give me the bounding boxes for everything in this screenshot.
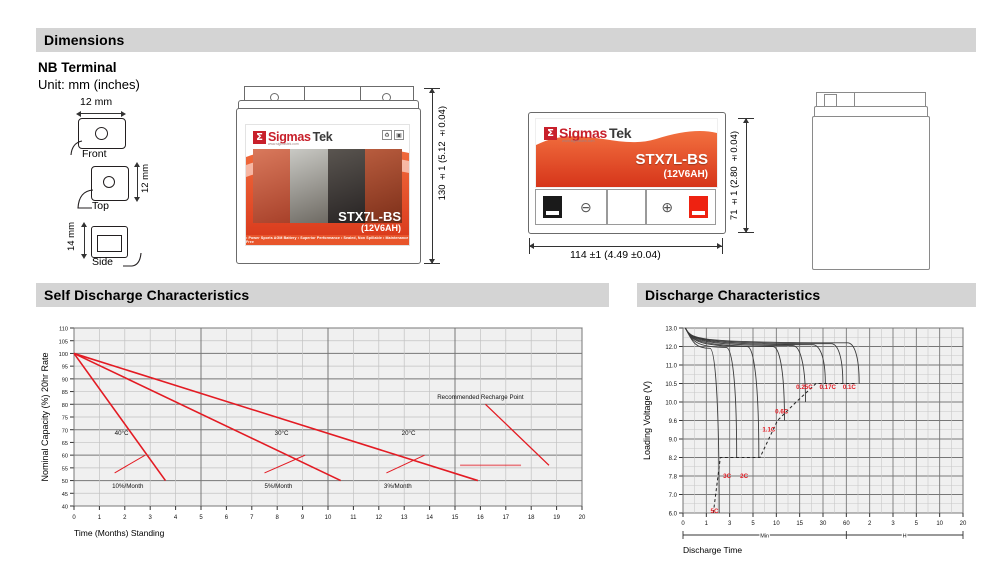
svg-text:10: 10 xyxy=(325,515,332,521)
svg-text:65: 65 xyxy=(62,441,68,447)
svg-text:80: 80 xyxy=(62,403,68,409)
recycle-icon: ♻ xyxy=(382,130,392,140)
discharge-plot: 13.012.011.010.510.09.69.08.27.87.06.001… xyxy=(637,320,982,570)
front-width-label: 12 mm xyxy=(80,96,112,108)
positive-post-icon xyxy=(689,196,708,218)
svg-text:Discharge Time: Discharge Time xyxy=(683,545,742,555)
sigma-mark-icon: Σ xyxy=(544,127,557,140)
svg-text:6: 6 xyxy=(225,515,229,521)
svg-text:20: 20 xyxy=(579,515,586,521)
photo-2 xyxy=(290,149,327,223)
terminal-top-caption: Top xyxy=(92,200,109,212)
svg-text:H: H xyxy=(903,534,907,540)
svg-text:1: 1 xyxy=(705,521,709,527)
battery-side-view xyxy=(812,84,930,270)
negative-symbol-icon: ⊖ xyxy=(580,199,592,216)
svg-text:55: 55 xyxy=(62,466,68,472)
brand-url: www.sigmastek.com xyxy=(268,142,299,146)
discharge-chart: 13.012.011.010.510.09.69.08.27.87.06.001… xyxy=(637,320,982,570)
svg-text:7.0: 7.0 xyxy=(669,493,678,499)
svg-text:20°C: 20°C xyxy=(402,430,416,437)
side-leader xyxy=(122,252,142,268)
svg-text:2: 2 xyxy=(868,521,872,527)
svg-text:15: 15 xyxy=(796,521,803,527)
svg-text:90: 90 xyxy=(62,377,68,383)
side-height-label: 14 mm xyxy=(66,222,77,251)
width-dim-line xyxy=(529,246,723,247)
svg-text:2: 2 xyxy=(123,515,127,521)
svg-text:5: 5 xyxy=(915,521,919,527)
side-body xyxy=(812,116,930,270)
svg-text:8: 8 xyxy=(276,515,280,521)
depth-arrow-down xyxy=(743,228,749,233)
svg-text:0.25C: 0.25C xyxy=(796,384,813,391)
svg-text:16: 16 xyxy=(477,515,484,521)
section-header-discharge: Discharge Characteristics xyxy=(637,283,976,307)
side-arrow-down xyxy=(81,254,87,259)
svg-text:70: 70 xyxy=(62,428,68,434)
terminal-row: ⊖ ⊕ xyxy=(535,189,716,225)
svg-text:50: 50 xyxy=(62,479,68,485)
svg-text:13: 13 xyxy=(401,515,408,521)
svg-text:9: 9 xyxy=(301,515,305,521)
top-brand-url: www.sigmastek.com xyxy=(562,139,595,143)
width-arrow-left xyxy=(529,243,534,249)
nb-terminal-title: NB Terminal xyxy=(38,60,117,75)
svg-text:13.0: 13.0 xyxy=(665,327,677,333)
height-arrow-up xyxy=(429,88,435,93)
top-height-label: 12 mm xyxy=(140,164,151,193)
unit-label: Unit: mm (inches) xyxy=(38,77,140,92)
svg-text:0.17C: 0.17C xyxy=(820,384,837,391)
svg-text:1.1C: 1.1C xyxy=(762,426,776,433)
svg-text:3: 3 xyxy=(149,515,153,521)
svg-text:11.0: 11.0 xyxy=(666,364,678,370)
svg-text:75: 75 xyxy=(62,416,68,422)
section-header-self-discharge: Self Discharge Characteristics xyxy=(36,283,609,307)
section-header-dimensions: Dimensions xyxy=(36,28,976,52)
battery-top-label: Σ SigmasTek www.sigmastek.com STX7L-BS (… xyxy=(535,118,718,188)
svg-text:105: 105 xyxy=(59,339,68,345)
svg-text:9.0: 9.0 xyxy=(669,438,678,444)
top-leader xyxy=(74,188,94,210)
label-tagline: • Power Sports AGM Battery • Superior Pe… xyxy=(246,235,409,245)
side-dim-line xyxy=(84,226,85,256)
svg-text:14: 14 xyxy=(426,515,433,521)
svg-text:3%/Month: 3%/Month xyxy=(384,483,412,490)
svg-text:10.0: 10.0 xyxy=(665,401,677,407)
label-capacity-front: (12V6AH) xyxy=(361,223,401,233)
battery-front-view: Σ SigmasTek www.sigmastek.com ♻ ▣ STX7L-… xyxy=(236,86,421,264)
svg-text:95: 95 xyxy=(62,365,68,371)
top-dim-line xyxy=(137,166,138,199)
manual-icon: ▣ xyxy=(394,130,404,140)
svg-text:12.0: 12.0 xyxy=(665,345,677,351)
label-model-top: STX7L-BS xyxy=(635,151,708,168)
svg-text:3: 3 xyxy=(728,521,732,527)
label-badges: ♻ ▣ xyxy=(382,130,404,140)
svg-text:5: 5 xyxy=(199,515,203,521)
svg-text:3: 3 xyxy=(891,521,895,527)
svg-text:12: 12 xyxy=(375,515,382,521)
svg-text:100: 100 xyxy=(59,352,68,358)
width-dim-tick-right xyxy=(722,238,723,254)
svg-text:9.6: 9.6 xyxy=(669,419,678,425)
battery-height-label: 130 ±1 (5.12 ±0.04) xyxy=(437,106,448,200)
svg-text:45: 45 xyxy=(62,492,68,498)
svg-text:7.8: 7.8 xyxy=(669,475,678,481)
svg-text:2C: 2C xyxy=(740,473,748,480)
sigma-mark-icon: Σ xyxy=(253,131,266,144)
svg-text:Min: Min xyxy=(760,534,769,540)
svg-text:10%/Month: 10%/Month xyxy=(112,483,144,490)
battery-width-label: 114 ±1 (4.49 ±0.04) xyxy=(570,249,661,261)
svg-text:30°C: 30°C xyxy=(275,430,289,437)
label-capacity-top: (12V6AH) xyxy=(664,169,708,180)
svg-text:7: 7 xyxy=(250,515,254,521)
section-title: Dimensions xyxy=(44,32,124,48)
negative-terminal-cell: ⊖ xyxy=(535,189,607,225)
terminal-middle-cell xyxy=(607,189,646,225)
svg-text:0.6C: 0.6C xyxy=(775,409,789,416)
section-title: Self Discharge Characteristics xyxy=(44,287,249,303)
svg-text:110: 110 xyxy=(59,327,68,333)
svg-text:18: 18 xyxy=(528,515,535,521)
svg-text:Time (Months) Standing: Time (Months) Standing xyxy=(74,528,165,538)
height-arrow-down xyxy=(429,259,435,264)
svg-text:60: 60 xyxy=(843,521,850,527)
photo-1 xyxy=(253,149,290,223)
svg-text:0.1C: 0.1C xyxy=(843,384,857,391)
depth-arrow-up xyxy=(743,118,749,123)
label-model-front: STX7L-BS xyxy=(338,209,401,224)
svg-text:8.2: 8.2 xyxy=(669,456,678,462)
svg-text:10: 10 xyxy=(773,521,780,527)
battery-front-label: Σ SigmasTek www.sigmastek.com ♻ ▣ STX7L-… xyxy=(245,124,410,246)
svg-text:3C: 3C xyxy=(723,473,731,480)
front-arrow-right xyxy=(121,111,126,117)
battery-top-view: Σ SigmasTek www.sigmastek.com STX7L-BS (… xyxy=(528,112,726,234)
svg-text:0: 0 xyxy=(681,521,685,527)
svg-text:19: 19 xyxy=(553,515,560,521)
terminal-top-hole xyxy=(103,176,115,188)
side-arrow-up xyxy=(81,222,87,227)
svg-text:60: 60 xyxy=(62,454,68,460)
svg-text:30: 30 xyxy=(820,521,827,527)
svg-text:5: 5 xyxy=(751,521,755,527)
brand-name-part2: Tek xyxy=(609,125,631,141)
top-arrow-down xyxy=(134,197,140,202)
terminal-views: 12 mm Front 12 mm Top 14 mm Side xyxy=(58,96,208,276)
positive-terminal-cell: ⊕ xyxy=(646,189,716,225)
svg-text:10: 10 xyxy=(936,521,943,527)
svg-text:17: 17 xyxy=(502,515,509,521)
terminal-front-hole xyxy=(95,127,108,140)
svg-text:15: 15 xyxy=(452,515,459,521)
svg-text:5C: 5C xyxy=(711,508,719,515)
front-dim-line xyxy=(78,113,124,114)
svg-text:40: 40 xyxy=(62,505,68,511)
svg-text:4: 4 xyxy=(174,515,178,521)
battery-depth-label: 71 ±1 (2.80 ±0.04) xyxy=(729,131,740,220)
self-discharge-plot: 4045505560657075808590951001051100123456… xyxy=(36,320,596,560)
positive-symbol-icon: ⊕ xyxy=(661,199,673,216)
depth-dim-line xyxy=(746,118,747,233)
terminal-front-caption: Front xyxy=(82,148,107,160)
terminal-side-inner xyxy=(97,235,122,252)
height-dim-line xyxy=(432,88,433,264)
svg-text:11: 11 xyxy=(350,515,357,521)
svg-text:6.0: 6.0 xyxy=(669,512,678,518)
svg-text:5%/Month: 5%/Month xyxy=(265,483,293,490)
self-discharge-chart: 4045505560657075808590951001051100123456… xyxy=(36,320,596,560)
terminal-side-caption: Side xyxy=(92,256,113,268)
brand-name-part2: Tek xyxy=(313,130,333,144)
section-title: Discharge Characteristics xyxy=(645,287,820,303)
svg-text:1: 1 xyxy=(98,515,102,521)
svg-text:85: 85 xyxy=(62,390,68,396)
svg-text:40°C: 40°C xyxy=(115,430,129,437)
svg-text:10.5: 10.5 xyxy=(665,382,677,388)
front-arrow-left xyxy=(76,111,81,117)
svg-text:0: 0 xyxy=(72,515,76,521)
width-arrow-right xyxy=(717,243,722,249)
svg-text:Loading Voltage (V): Loading Voltage (V) xyxy=(642,381,652,460)
svg-text:Nominal Capacity (%) 20hr Rate: Nominal Capacity (%) 20hr Rate xyxy=(40,352,50,481)
negative-post-icon xyxy=(543,196,562,218)
svg-text:Recommended Recharge Point: Recommended Recharge Point xyxy=(437,394,524,401)
svg-text:20: 20 xyxy=(960,521,967,527)
